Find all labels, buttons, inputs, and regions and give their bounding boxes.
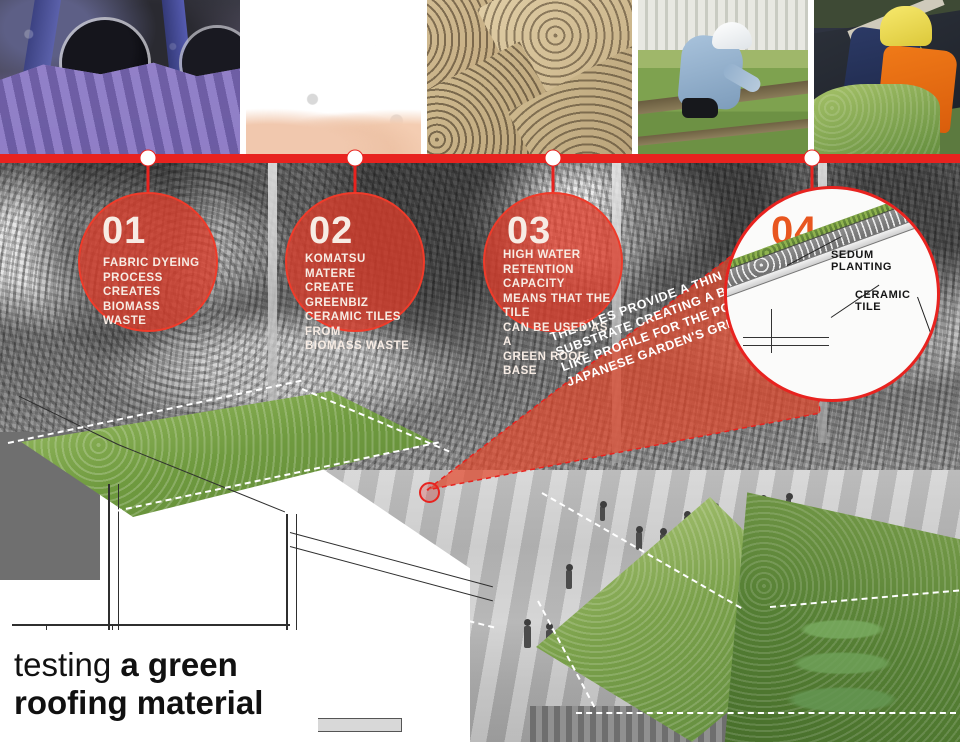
step-line: CREATE GREENBIZ: [305, 281, 417, 310]
step-line: CAN BE USED AS A: [503, 321, 617, 350]
worker-boot: [682, 98, 718, 118]
infographic-board: THE TILES PROVIDE A THIN SUBSTRATE CREAT…: [0, 0, 960, 742]
step-line: FABRIC DYEING: [103, 256, 204, 271]
step-line: RETENTION CAPACITY: [503, 263, 617, 292]
step-line: HIGH WATER: [503, 248, 617, 263]
step-line: KOMATSU MATERE: [305, 252, 417, 281]
detail-label-tile: CERAMIC TILE: [855, 289, 937, 313]
step-circle-03[interactable]: 03 HIGH WATER RETENTION CAPACITY MEANS T…: [483, 192, 623, 332]
photo-worker-installing-sedum-mats: [814, 0, 960, 155]
pine-sapling: [782, 606, 902, 736]
timeline-node-02[interactable]: [347, 150, 364, 167]
photo-grain-overlay: [246, 0, 421, 155]
step-circle-01[interactable]: 01 FABRIC DYEING PROCESS CREATES BIOMASS…: [78, 192, 218, 332]
photo-ceramic-tile-closeup: [427, 0, 632, 155]
step-line: GREEN ROOF BASE: [503, 350, 617, 379]
page-title: testing a green roofing material: [14, 646, 263, 722]
timeline-node-01[interactable]: [140, 150, 157, 167]
step-circle-02[interactable]: 02 KOMATSU MATERE CREATE GREENBIZ CERAMI…: [285, 192, 425, 332]
title-bold-part-2: roofing material: [14, 684, 263, 721]
photo-ceramic-aggregate-in-hands: [246, 0, 421, 155]
detail-substructure-line: [743, 345, 829, 346]
step-line: CERAMIC TILES FROM: [305, 310, 417, 339]
step-number-03: 03: [507, 212, 551, 250]
timeline-node-04[interactable]: [804, 150, 821, 167]
title-card: testing a green roofing material: [0, 630, 318, 742]
title-bold-part-1: a green: [120, 646, 237, 683]
roof-dashed-outline: [576, 712, 956, 714]
title-light-part: testing: [14, 646, 120, 683]
sedum-mat: [814, 84, 940, 155]
photo-fabric-dyeing-machine: [0, 0, 240, 155]
step-line: PROCESS CREATES: [103, 271, 204, 300]
step-body-02: KOMATSU MATERE CREATE GREENBIZ CERAMIC T…: [305, 252, 417, 354]
step-line: MEANS THAT THE TILE: [503, 292, 617, 321]
step-line: BIOMASS WASTE: [305, 339, 417, 354]
photo-grain-overlay: [0, 0, 240, 155]
hard-hat-icon: [880, 6, 932, 46]
step-body-01: FABRIC DYEING PROCESS CREATES BIOMASS WA…: [103, 256, 204, 329]
section-floor-line: [12, 624, 290, 626]
step-body-03: HIGH WATER RETENTION CAPACITY MEANS THAT…: [503, 248, 617, 379]
step-line: BIOMASS WASTE: [103, 300, 204, 329]
timeline-node-03[interactable]: [545, 150, 562, 167]
detail-label-sedum: SEDUM PLANTING: [831, 249, 937, 273]
detail-substructure-line: [743, 337, 829, 338]
magnifier-focus-point: [419, 482, 440, 503]
header-photo-strip: [0, 0, 960, 155]
step-number-02: 02: [309, 212, 353, 250]
step-number-01: 01: [102, 212, 146, 250]
photo-worker-inspecting-sedum-field: [638, 0, 808, 155]
detail-circle-04[interactable]: 04 SEDUM PLANTING CERAMIC TILE 2 1/2": [724, 186, 940, 402]
field-furrow-secondary: [638, 116, 808, 148]
detail-substructure-line: [771, 309, 772, 353]
green-roof-photo: [530, 452, 960, 742]
